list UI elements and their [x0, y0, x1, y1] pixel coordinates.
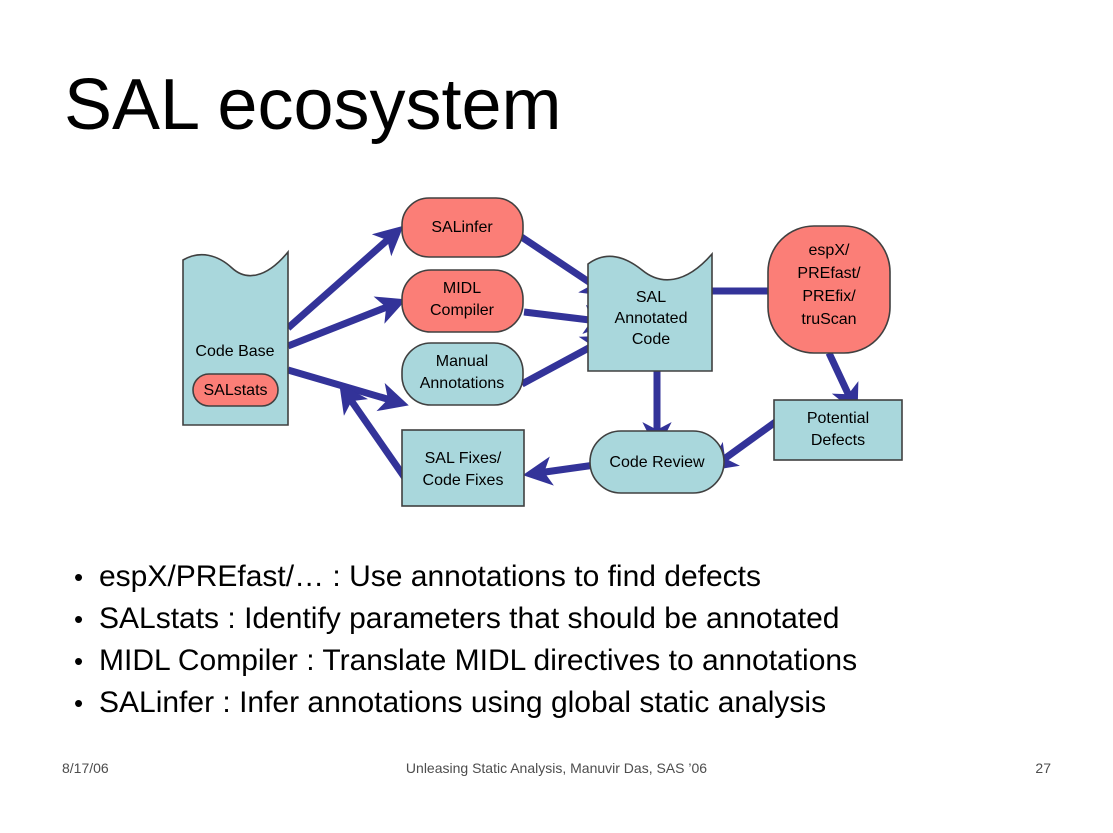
bullet-text: SALinfer : Infer annotations using globa…	[99, 682, 1064, 723]
bullet-marker-icon: •	[64, 599, 99, 640]
edge-salinfer-to-annotated	[520, 236, 598, 288]
sal-annotated-code-label-2: Annotated	[615, 310, 688, 327]
node-salinfer[interactable]: SALinfer	[402, 198, 523, 257]
list-item: • SALinfer : Infer annotations using glo…	[64, 682, 1064, 724]
edge-potential-defects-to-code-review	[720, 418, 781, 462]
espx-group-label-2: PREfast/	[797, 265, 861, 282]
footer-title: Unleasing Static Analysis, Manuvir Das, …	[0, 760, 1113, 776]
bullet-text: espX/PREfast/… : Use annotations to find…	[99, 556, 1064, 597]
node-sal-fixes[interactable]: SAL Fixes/ Code Fixes	[402, 430, 524, 506]
sal-ecosystem-diagram: Code Base SALstats SALinfer MIDL Compile…	[170, 188, 930, 523]
salinfer-label: SALinfer	[431, 219, 493, 236]
diagram-edges	[288, 236, 851, 478]
node-midl-compiler[interactable]: MIDL Compiler	[402, 270, 523, 332]
midl-compiler-label-2: Compiler	[430, 302, 495, 319]
node-code-base[interactable]: Code Base SALstats	[183, 252, 288, 425]
list-item: • MIDL Compiler : Translate MIDL directi…	[64, 640, 1064, 682]
bullet-marker-icon: •	[64, 641, 99, 682]
sal-annotated-code-label-3: Code	[632, 331, 670, 348]
list-item: • SALstats : Identify parameters that sh…	[64, 598, 1064, 640]
edge-sal-fixes-to-code-base	[348, 396, 405, 478]
espx-group-label-1: espX/	[809, 242, 850, 259]
node-sal-annotated-code[interactable]: SAL Annotated Code	[588, 254, 712, 371]
node-manual-annotations[interactable]: Manual Annotations	[402, 343, 523, 405]
slide: SAL ecosystem	[0, 0, 1113, 833]
node-salstats[interactable]: SALstats	[193, 374, 278, 406]
potential-defects-label-1: Potential	[807, 410, 869, 427]
manual-annotations-label-1: Manual	[436, 353, 488, 370]
node-potential-defects[interactable]: Potential Defects	[774, 400, 902, 460]
list-item: • espX/PREfast/… : Use annotations to fi…	[64, 556, 1064, 598]
node-code-review[interactable]: Code Review	[590, 431, 724, 493]
potential-defects-label-2: Defects	[811, 432, 865, 449]
espx-group-label-3: PREfix/	[802, 288, 856, 305]
bullet-text: SALstats : Identify parameters that shou…	[99, 598, 1064, 639]
manual-annotations-label-2: Annotations	[420, 375, 505, 392]
sal-fixes-label-2: Code Fixes	[423, 472, 504, 489]
page-title: SAL ecosystem	[64, 62, 562, 148]
edge-espx-to-potential-defects	[829, 353, 851, 400]
code-review-label: Code Review	[609, 454, 705, 471]
edge-code-review-to-sal-fixes	[538, 465, 595, 473]
edge-midl-to-annotated	[524, 312, 598, 321]
slide-number: 27	[1035, 760, 1051, 776]
bullet-marker-icon: •	[64, 683, 99, 724]
espx-group-label-4: truScan	[801, 311, 856, 328]
potential-defects-shape	[774, 400, 902, 460]
edge-manual-to-annotated	[522, 343, 598, 384]
sal-fixes-label-1: SAL Fixes/	[425, 450, 502, 467]
bullet-text: MIDL Compiler : Translate MIDL directive…	[99, 640, 1064, 681]
code-base-label: Code Base	[195, 343, 274, 360]
bullet-list: • espX/PREfast/… : Use annotations to fi…	[64, 556, 1064, 724]
node-espx-group[interactable]: espX/ PREfast/ PREfix/ truScan	[768, 226, 890, 353]
midl-compiler-label-1: MIDL	[443, 280, 481, 297]
bullet-marker-icon: •	[64, 557, 99, 598]
sal-annotated-code-label-1: SAL	[636, 289, 666, 306]
salstats-label: SALstats	[203, 382, 267, 399]
slide-footer: 8/17/06 Unleasing Static Analysis, Manuv…	[0, 760, 1113, 784]
edge-code-base-to-manual	[288, 370, 394, 401]
sal-fixes-shape	[402, 430, 524, 506]
